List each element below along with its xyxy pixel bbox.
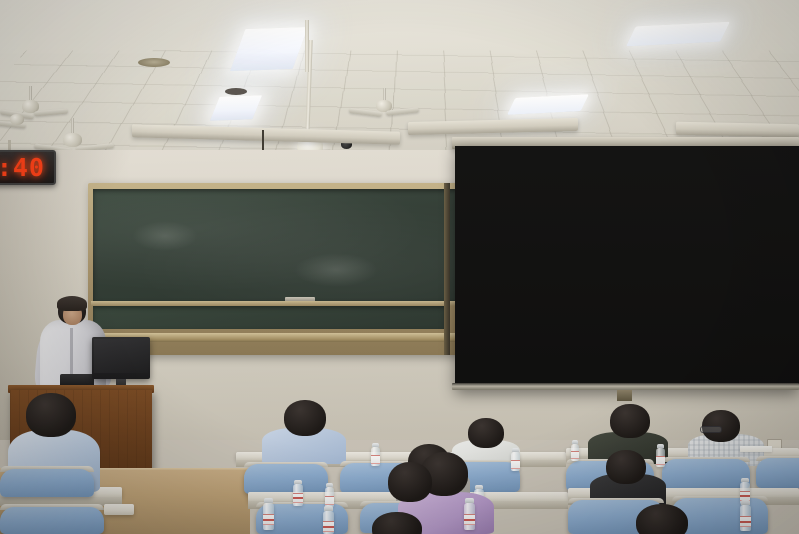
projector-screen-pull-tab <box>617 390 632 401</box>
hanging-cable <box>262 130 264 152</box>
glasses-icon <box>700 426 722 433</box>
mount-pole <box>305 20 309 72</box>
green-chalkboard <box>88 183 463 355</box>
attendee-head <box>636 504 688 534</box>
auditorium-chair[interactable] <box>0 507 104 534</box>
attendee-head <box>284 400 326 436</box>
chalkboard-right-edge <box>444 183 450 355</box>
air-vent-icon <box>138 58 170 67</box>
attendee-head <box>606 450 646 484</box>
desk-row-front-left-lower <box>104 504 134 515</box>
projection-screen-bezel: ❀ 中国石油大学 CHINA UNIVERSITY OF PETROLEUM 古… <box>455 146 799 389</box>
panel-light <box>626 22 730 47</box>
ceiling-hole <box>225 88 247 95</box>
auditorium-chair[interactable] <box>244 464 328 494</box>
attendee-head <box>388 462 432 502</box>
projector-track-rail <box>676 122 799 138</box>
monitor-screen <box>94 339 148 373</box>
led-wall-clock: 4:40 <box>0 150 56 185</box>
presenter-hair <box>57 296 87 311</box>
ceiling-fan <box>0 110 56 144</box>
auditorium-chair[interactable] <box>662 459 750 489</box>
pendant-lamp <box>294 40 324 168</box>
attendee-head <box>610 404 650 438</box>
chalkboard-lower-panel <box>93 306 446 329</box>
auditorium-chair[interactable] <box>756 458 799 488</box>
projector-screen-bottom-bar <box>452 383 799 390</box>
desktop-monitor <box>92 337 150 379</box>
lecture-hall-photo: 4:40 <box>0 0 799 534</box>
chalk-smudge <box>132 221 198 251</box>
attendee-head <box>26 393 76 437</box>
auditorium-chair[interactable] <box>0 469 94 497</box>
attendee-head <box>468 418 504 448</box>
clock-time-display: 4:40 <box>0 153 54 182</box>
handout-paper <box>740 446 772 452</box>
chalk-smudge <box>294 253 378 287</box>
